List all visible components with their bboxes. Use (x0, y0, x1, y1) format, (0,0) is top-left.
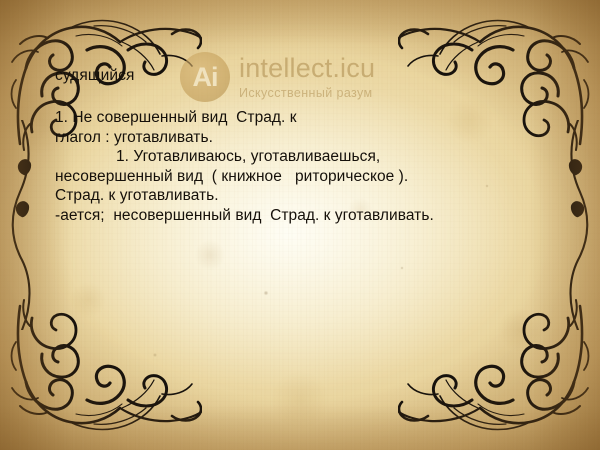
definition-block: 1. Не совершенный вид Страд. к глагол : … (55, 108, 555, 225)
parchment-page: Ai intellect.icu Искусственный разум суд… (0, 0, 600, 450)
definition-line: 1. Не совершенный вид Страд. к (55, 108, 555, 128)
definition-line: -ается; несовершенный вид Страд. к угота… (55, 206, 555, 226)
headword: судящийся (55, 66, 555, 86)
definition-line: несовершенный вид ( книжное риторическое… (55, 167, 555, 187)
definition-line: 1. Уготавливаюсь, уготавливаешься, (55, 147, 555, 167)
definition-line: глагол : уготавливать. (55, 128, 555, 148)
dictionary-entry: судящийся 1. Не совершенный вид Страд. к… (55, 66, 555, 225)
definition-line: Страд. к уготавливать. (55, 186, 555, 206)
